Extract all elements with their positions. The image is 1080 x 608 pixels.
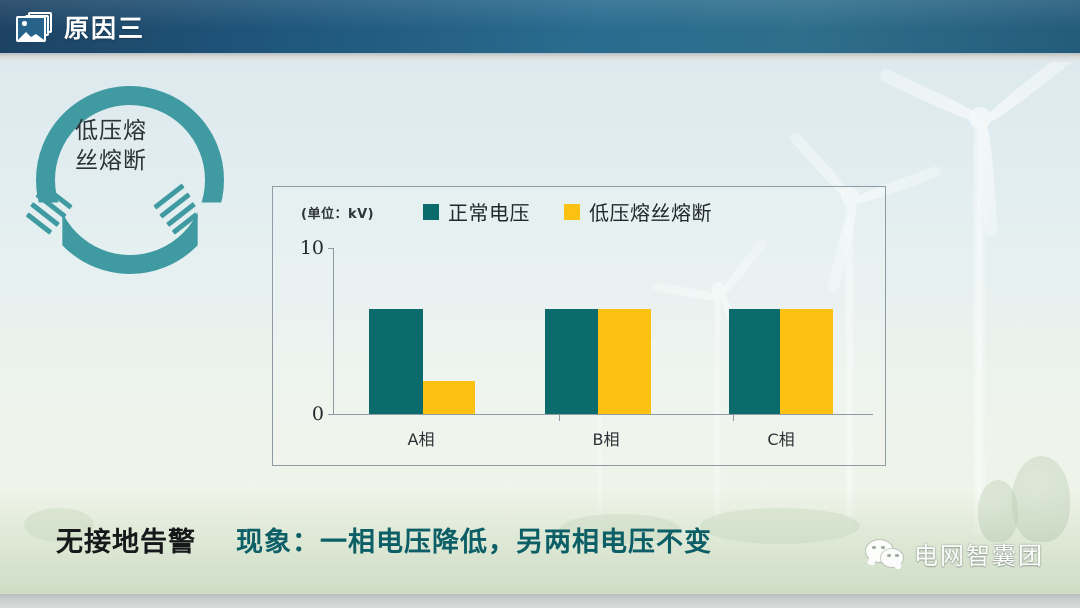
badge-stripes-left — [24, 181, 82, 243]
header-glow — [0, 0, 1080, 53]
watermark: 电网智囊团 — [866, 536, 1044, 571]
tree-right-2 — [978, 480, 1018, 542]
bar-a-normal — [369, 309, 423, 414]
legend-item-normal: 正常电压 — [423, 197, 530, 226]
x-axis-separator-1 — [559, 415, 560, 421]
x-tick-label-c: C相 — [767, 426, 794, 450]
mountain-glyph — [18, 29, 44, 40]
chart-unit-label: (单位：kV) — [301, 203, 374, 222]
badge-label-line2: 丝熔断 — [36, 146, 186, 176]
legend-label-normal: 正常电压 — [448, 197, 530, 226]
chart-plot-area: 10 0 A相 B相 C相 — [333, 248, 873, 415]
bush-mid-2 — [700, 508, 860, 544]
x-axis — [333, 414, 873, 415]
legend-swatch-yellow — [564, 204, 580, 220]
badge-ring — [36, 86, 224, 274]
topic-badge: 低压熔 丝熔断 — [18, 86, 204, 246]
bar-c-fuse — [780, 309, 833, 414]
chart-legend: 正常电压 低压熔丝熔断 — [423, 197, 712, 226]
caption-row: 无接地告警 现象：一相电压降低，另两相电压不变 — [56, 520, 712, 559]
y-tick-label-min: 0 — [312, 405, 324, 424]
bar-b-normal — [545, 309, 598, 414]
wechat-icon — [866, 540, 904, 568]
slide: 原因三 低压熔 丝熔断 (单位：kV) 正常电压 — [0, 0, 1080, 608]
badge-label-line1: 低压熔 — [36, 116, 186, 146]
watermark-text: 电网智囊团 — [914, 536, 1044, 571]
x-tick-label-a: A相 — [408, 426, 435, 450]
header-bar: 原因三 — [0, 0, 1080, 53]
badge-label: 低压熔 丝熔断 — [36, 116, 186, 176]
legend-swatch-teal — [423, 204, 439, 220]
x-axis-separator-2 — [733, 415, 734, 421]
bottom-strip — [0, 594, 1080, 608]
legend-label-fuse: 低压熔丝熔断 — [589, 197, 712, 226]
header-divider — [0, 53, 1080, 62]
caption-left: 无接地告警 — [56, 520, 196, 559]
y-axis — [333, 248, 334, 415]
y-tick-label-max: 10 — [300, 239, 324, 258]
x-tick-label-b: B相 — [593, 426, 620, 450]
tree-right — [1012, 456, 1070, 542]
bar-b-fuse — [598, 309, 651, 414]
photos-stack-icon — [16, 12, 52, 42]
bar-a-fuse — [423, 381, 475, 414]
header-content: 原因三 — [16, 0, 145, 53]
chart-panel: (单位：kV) 正常电压 低压熔丝熔断 10 0 A相 — [272, 186, 886, 466]
page-title: 原因三 — [64, 9, 145, 45]
legend-item-fuse: 低压熔丝熔断 — [564, 197, 712, 226]
caption-right: 现象：一相电压降低，另两相电压不变 — [236, 520, 712, 559]
badge-stripes-right — [144, 181, 202, 243]
bar-c-normal — [729, 309, 780, 414]
